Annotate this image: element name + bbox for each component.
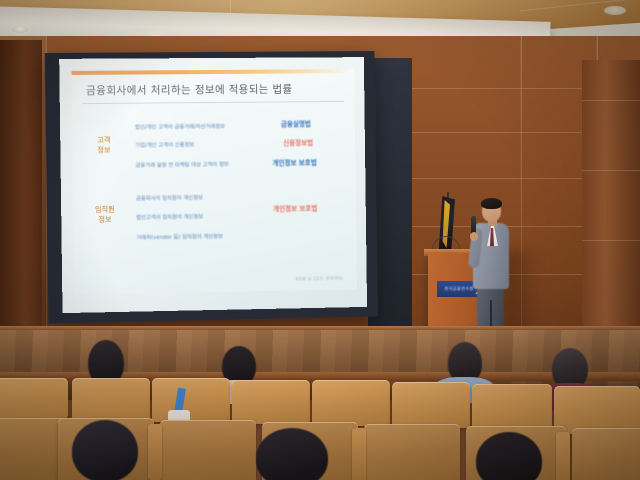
slide-title-divider [82, 101, 344, 104]
ceiling-downlight-icon [12, 26, 28, 33]
slide-accent-bar [72, 69, 355, 75]
audience-head [72, 420, 138, 480]
slide-item: 금융거래 설정 전 마케팅 대상 고객의 정보 [135, 160, 228, 169]
auditorium-seat [72, 378, 150, 420]
slide-item: 기업/개인 고객의 신용정보 [135, 140, 194, 149]
group-label-line2: 정보 [84, 214, 127, 225]
seat-armrest [352, 428, 366, 480]
auditorium-seat [392, 382, 470, 428]
slide-footer-text: KDB & CEO 강의자료 [296, 276, 343, 283]
speaker-hand [470, 232, 478, 241]
auditorium-seat [312, 380, 390, 426]
slide-item: 금융회사의 임직원의 개인정보 [136, 193, 203, 202]
podium-plate-text: 한국금융연수원 [444, 286, 473, 292]
auditorium-seat [554, 386, 640, 434]
auditorium-seat [364, 424, 460, 480]
slide-title: 금융회사에서 처리하는 정보에 적용되는 법률 [86, 81, 293, 98]
ceiling-speaker-icon [604, 6, 626, 15]
group-label-line2: 정보 [87, 145, 122, 156]
presentation-slide: 금융회사에서 처리하는 정보에 적용되는 법률 고객 정보 법인/개인 고객의 … [72, 69, 357, 295]
audience-seating-area [0, 352, 640, 480]
auditorium-seat [232, 380, 310, 424]
right-wall-column [582, 60, 640, 360]
slide-law-label: 개인정보 보호법 [272, 157, 316, 167]
seat-armrest [556, 432, 570, 480]
projection-screen-surface: 금융회사에서 처리하는 정보에 적용되는 법률 고객 정보 법인/개인 고객의 … [59, 57, 367, 313]
slide-item: 법인/개인 고객의 금융거래/자산거래정보 [135, 122, 225, 131]
lecture-hall-photo: 금융회사에서 처리하는 정보에 적용되는 법률 고객 정보 법인/개인 고객의 … [0, 0, 640, 480]
slide-group-label-customer: 고객 정보 [87, 135, 122, 156]
seat-armrest [148, 424, 162, 480]
slide-item: 법인고객의 임직원의 개인정보 [136, 212, 203, 221]
slide-item: 거래처(vendor 등) 임직원의 개인정보 [136, 232, 223, 241]
slide-law-label: 개인정보 보호법 [273, 203, 317, 214]
group-label-line1: 임직원 [83, 204, 126, 215]
speaker-hair [481, 198, 502, 209]
auditorium-seat [160, 420, 256, 480]
auditorium-seat [152, 378, 230, 422]
group-label-line1: 고객 [87, 135, 122, 146]
slide-law-label: 신용정보법 [283, 137, 313, 147]
audience-head [256, 428, 328, 480]
left-wall-recess [0, 40, 42, 340]
auditorium-seat [0, 378, 68, 418]
auditorium-seat [572, 428, 640, 480]
slide-law-label: 금융실명법 [281, 118, 311, 128]
auditorium-seat [472, 384, 552, 432]
slide-group-label-employee: 임직원 정보 [83, 204, 126, 225]
